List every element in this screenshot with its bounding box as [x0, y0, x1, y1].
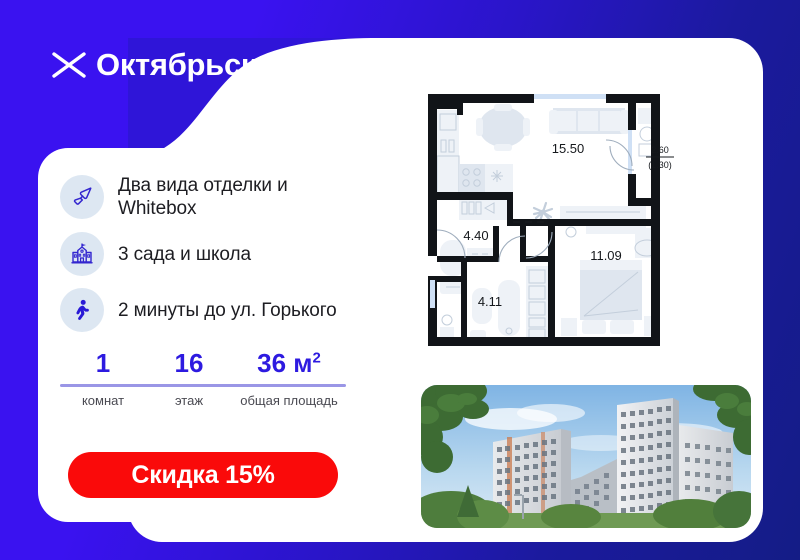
room-area-living: 15.50: [552, 141, 585, 156]
feature-item-finishing: Два вида отделки и Whitebox: [60, 174, 348, 220]
balcony-reduced-area: (1.30): [648, 160, 672, 170]
discount-button[interactable]: Скидка 15%: [68, 452, 338, 498]
feature-label: 2 минуты до ул. Горького: [118, 299, 337, 322]
stat-area-number: 36: [257, 348, 286, 378]
feature-item-schools: 3 сада и школа: [60, 232, 348, 276]
feature-label: Два вида отделки и Whitebox: [118, 174, 348, 220]
feature-list: Два вида отделки и Whitebox: [38, 174, 368, 332]
stat-label-rooms: комнат: [60, 393, 146, 409]
stat-area-unit: м2: [293, 348, 321, 378]
floor-plan[interactable]: .wall { fill:#111418; } .furn { fill:#df…: [410, 80, 700, 370]
info-panel: Два вида отделки и Whitebox: [38, 148, 368, 522]
brand-logo: Октябрьский: [0, 0, 400, 130]
feature-label: 3 сада и школа: [118, 243, 251, 266]
room-area-kitchen: 4.40: [463, 228, 488, 243]
pedestrian-icon: [60, 288, 104, 332]
stat-value-area: 36 м2: [232, 348, 346, 379]
brand-name: Октябрьский: [96, 47, 294, 83]
balcony-area: 2.60: [651, 145, 669, 155]
feature-item-walk-distance: 2 минуты до ул. Горького: [60, 288, 348, 332]
stats-block: 1 16 36 м2 комнат этаж общая площадь: [60, 348, 346, 409]
stat-value-floor: 16: [146, 348, 232, 379]
stat-label-floor: этаж: [146, 393, 232, 409]
x-mark-icon: [52, 51, 86, 79]
stats-labels-row: комнат этаж общая площадь: [60, 387, 346, 409]
stats-values-row: 1 16 36 м2: [60, 348, 346, 384]
stat-value-rooms: 1: [60, 348, 146, 379]
room-area-bedroom: 11.09: [590, 248, 622, 263]
building-photo[interactable]: [421, 385, 751, 528]
trowel-icon: [60, 175, 104, 219]
school-icon: [60, 232, 104, 276]
stat-label-area: общая площадь: [232, 393, 346, 409]
promo-card: Октябрьский Два вида отделки и Whitebox: [0, 0, 800, 560]
room-area-bathroom: 4.11: [478, 294, 502, 309]
